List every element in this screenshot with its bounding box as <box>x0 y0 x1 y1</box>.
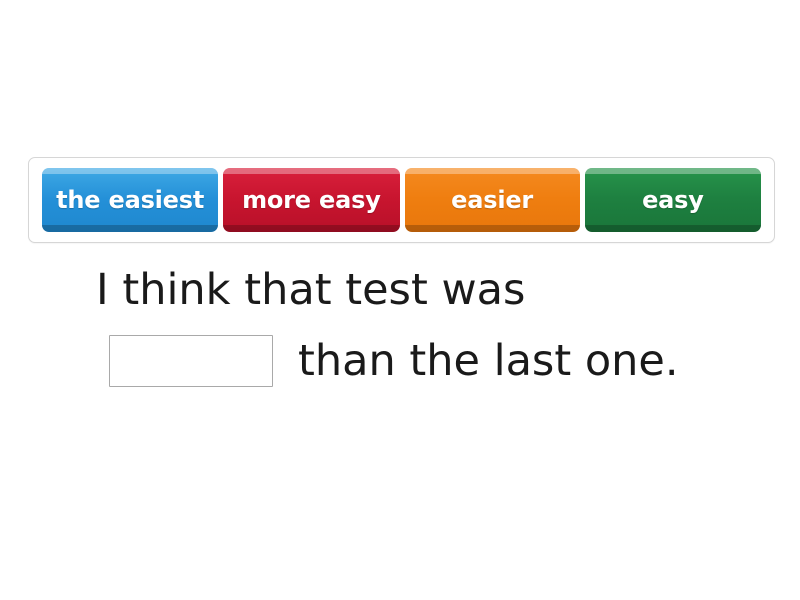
exercise-canvas: the easiest more easy easier easy I thin… <box>0 0 800 600</box>
word-tile-more-easy[interactable]: more easy <box>223 168 399 232</box>
answer-drop-slot[interactable] <box>109 335 273 387</box>
word-bank: the easiest more easy easier easy <box>28 157 775 243</box>
sentence-line-1: I think that test was <box>96 255 736 325</box>
word-tile-the-easiest[interactable]: the easiest <box>42 168 218 232</box>
word-tile-easier[interactable]: easier <box>405 168 580 232</box>
word-tile-label: the easiest <box>56 186 204 214</box>
word-tile-label: more easy <box>242 186 381 214</box>
word-tile-label: easier <box>451 186 533 214</box>
sentence-line-2: than the last one. <box>96 326 736 396</box>
sentence-line-2-tail: than the last one. <box>298 326 679 396</box>
word-tile-label: easy <box>642 186 704 214</box>
sentence-prompt: I think that test was than the last one. <box>96 255 736 396</box>
word-tile-easy[interactable]: easy <box>585 168 761 232</box>
